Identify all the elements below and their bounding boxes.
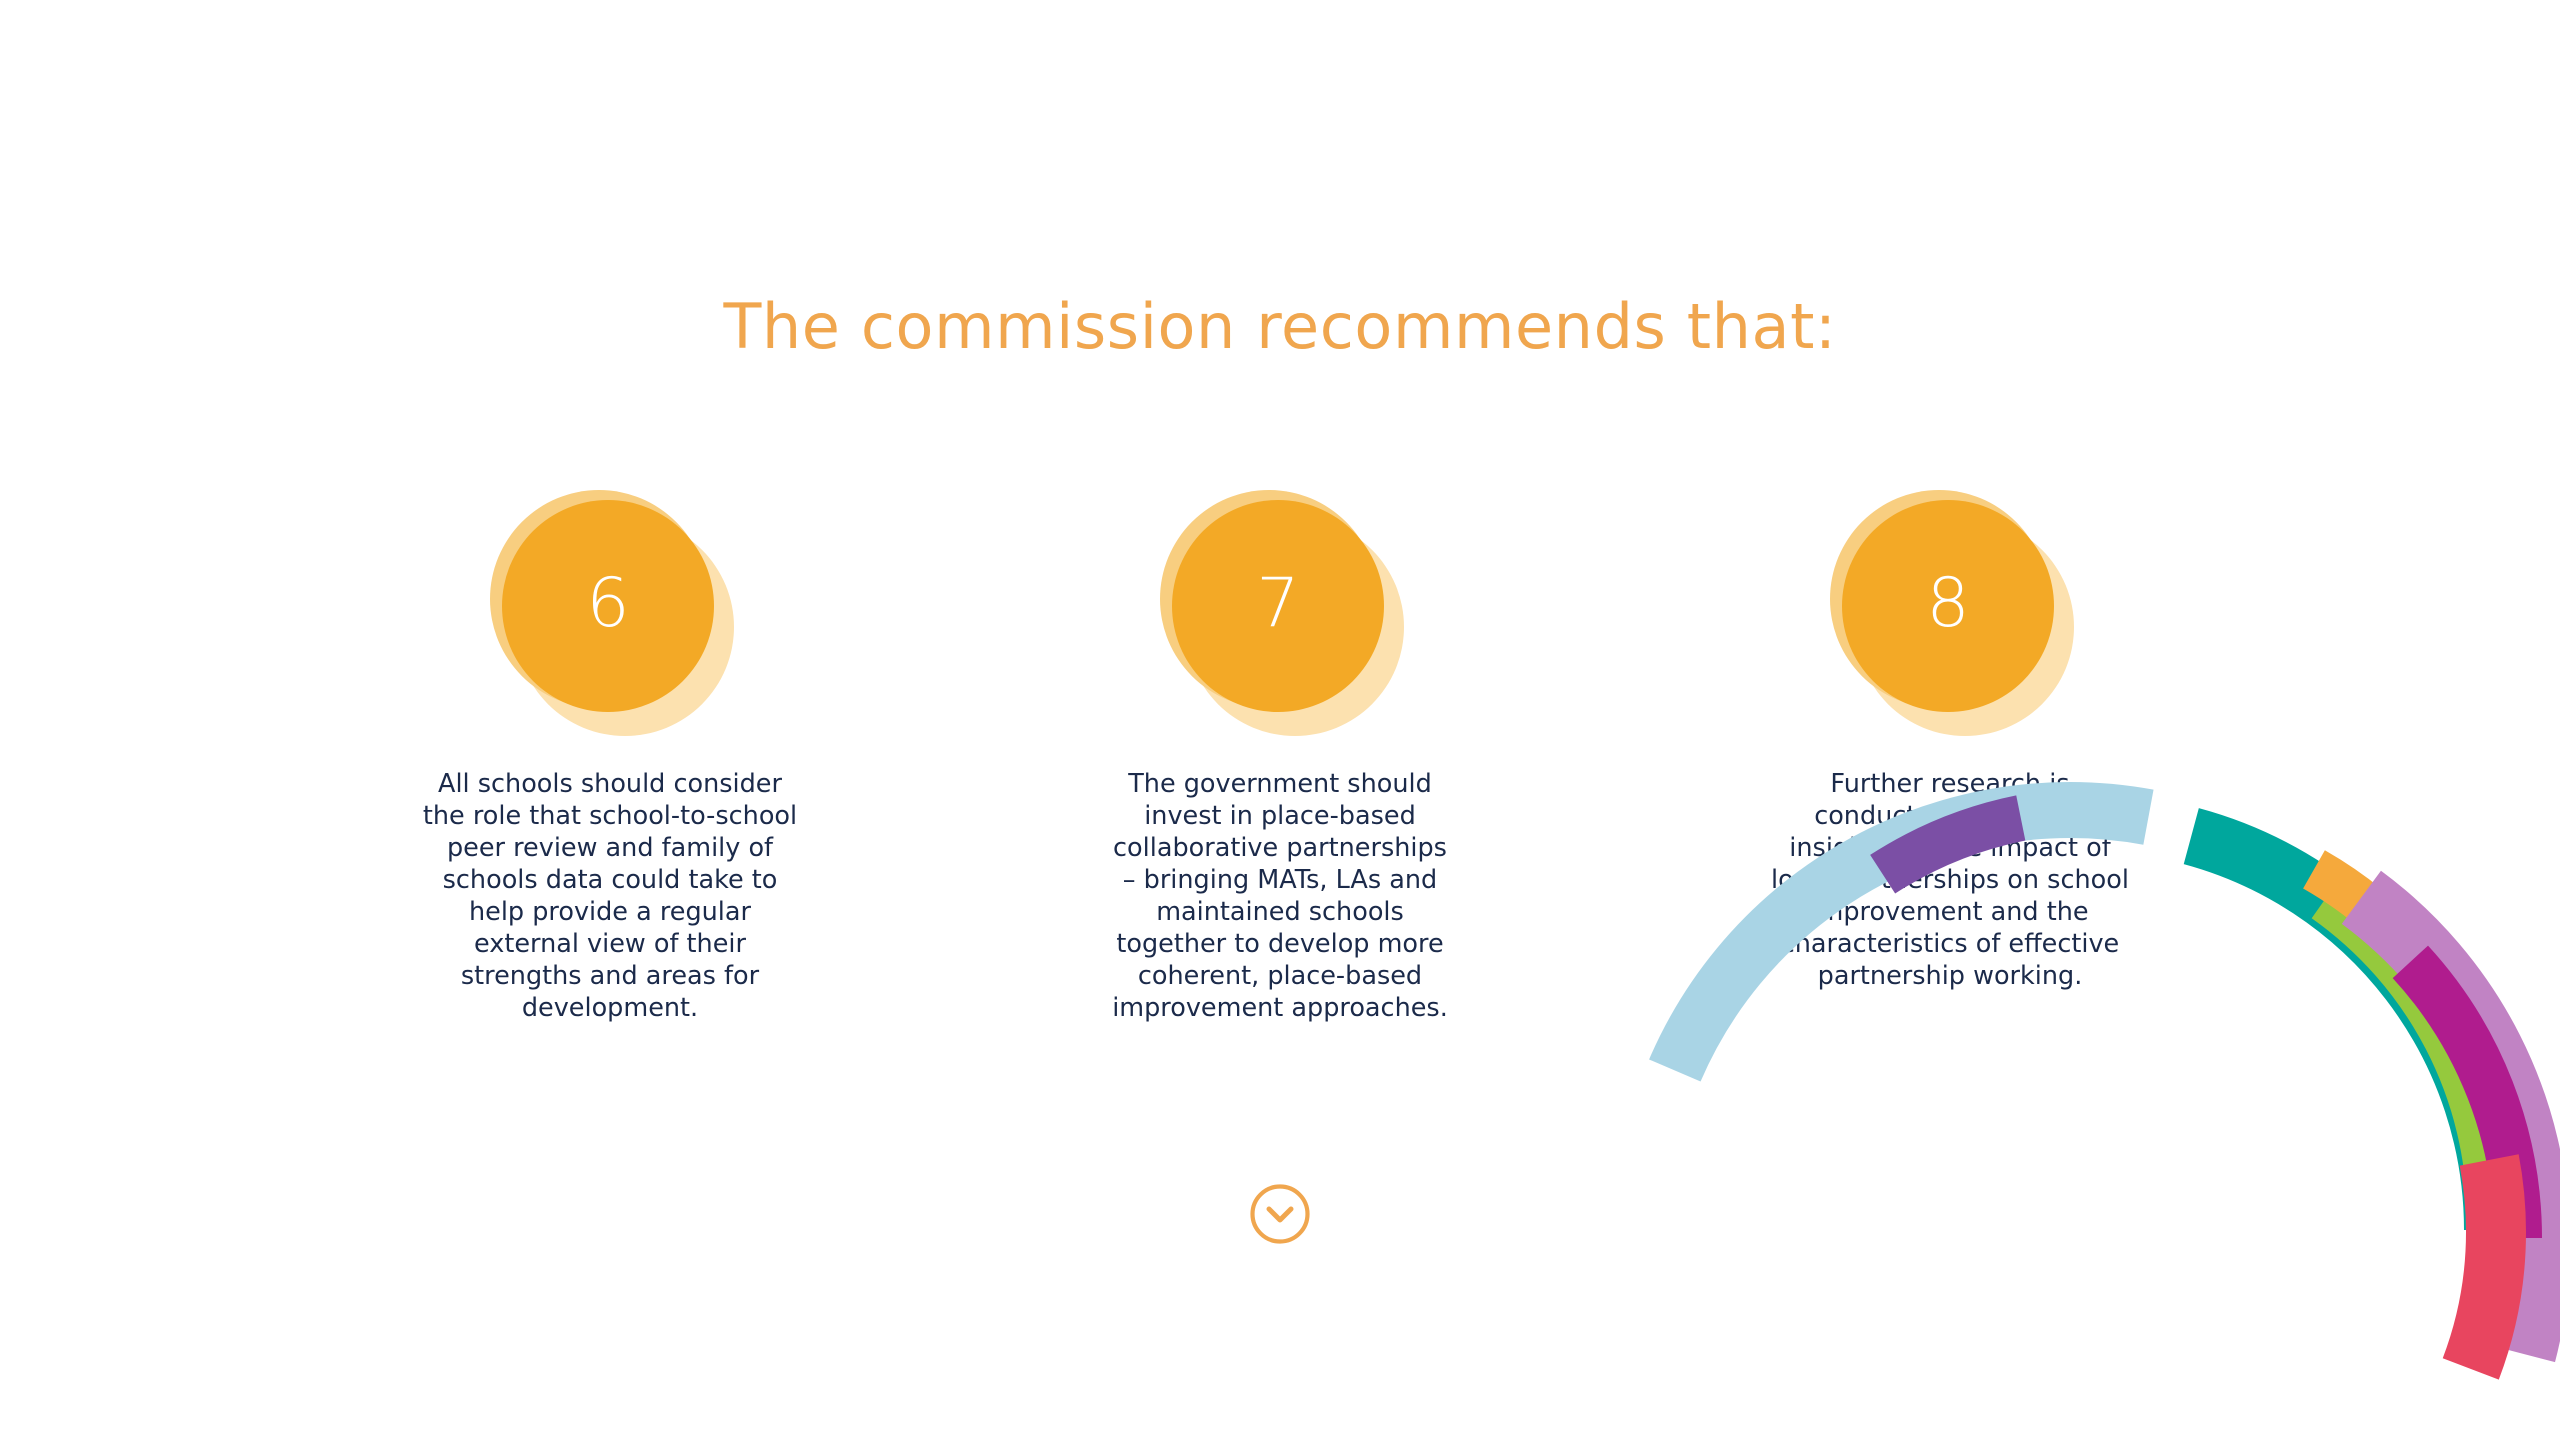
scroll-down-button[interactable] xyxy=(1248,1182,1312,1246)
recommendation-text-6: All schools should consider the role tha… xyxy=(415,768,805,1024)
badge-number-label: 8 xyxy=(1926,570,1969,638)
recommendation-text-8: Further research is conducted to provide… xyxy=(1770,768,2130,992)
badge-disc: 7 xyxy=(1172,500,1384,712)
page-title: The commission recommends that: xyxy=(0,290,2560,363)
badge-disc: 6 xyxy=(502,500,714,712)
recommendation-text-7: The government should invest in place-ba… xyxy=(1110,768,1450,1024)
recommendation-column-6: 6 All schools should consider the role t… xyxy=(380,490,840,1024)
chevron-down-circle-icon xyxy=(1248,1182,1312,1246)
badge-disc: 8 xyxy=(1842,500,2054,712)
number-badge-8: 8 xyxy=(1830,490,2070,730)
badge-number-label: 6 xyxy=(586,570,629,638)
recommendation-column-8: 8 Further research is conducted to provi… xyxy=(1720,490,2180,992)
number-badge-7: 7 xyxy=(1160,490,1400,730)
slide-canvas: The commission recommends that: 6 All sc… xyxy=(0,0,2560,1440)
number-badge-6: 6 xyxy=(490,490,730,730)
recommendation-column-7: 7 The government should invest in place-… xyxy=(1050,490,1510,1024)
badge-number-label: 7 xyxy=(1256,570,1299,638)
recommendations-row: 6 All schools should consider the role t… xyxy=(380,490,2180,1024)
